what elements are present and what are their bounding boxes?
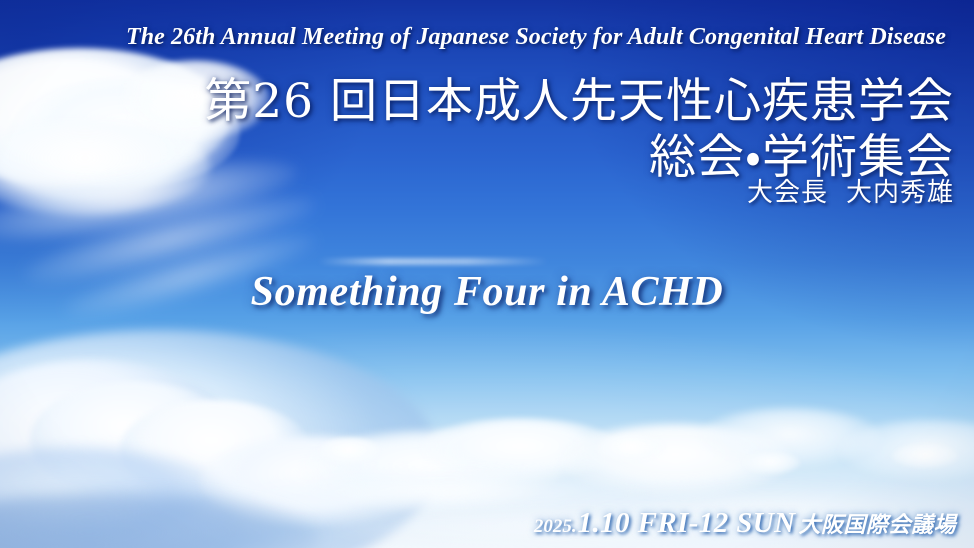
poster-text-layer: The 26th Annual Meeting of Japanese Soci… [0, 0, 974, 548]
conference-poster: The 26th Annual Meeting of Japanese Soci… [0, 0, 974, 548]
date-venue-line: 2025. 1.10 FRI-12 SUN 大阪国際会議場 [534, 507, 956, 540]
event-venue: 大阪国際会議場 [798, 507, 956, 539]
english-meeting-title: The 26th Annual Meeting of Japanese Soci… [0, 24, 952, 51]
event-dates: 1.10 FRI-12 SUN [578, 507, 796, 540]
chairperson-label: 大会長 [747, 178, 828, 208]
event-year: 2025. [534, 516, 577, 538]
meeting-theme: Something Four in ACHD [0, 268, 974, 316]
chairperson-line: 大会長大内秀雄 [0, 172, 954, 209]
chairperson-name: 大内秀雄 [846, 178, 954, 208]
